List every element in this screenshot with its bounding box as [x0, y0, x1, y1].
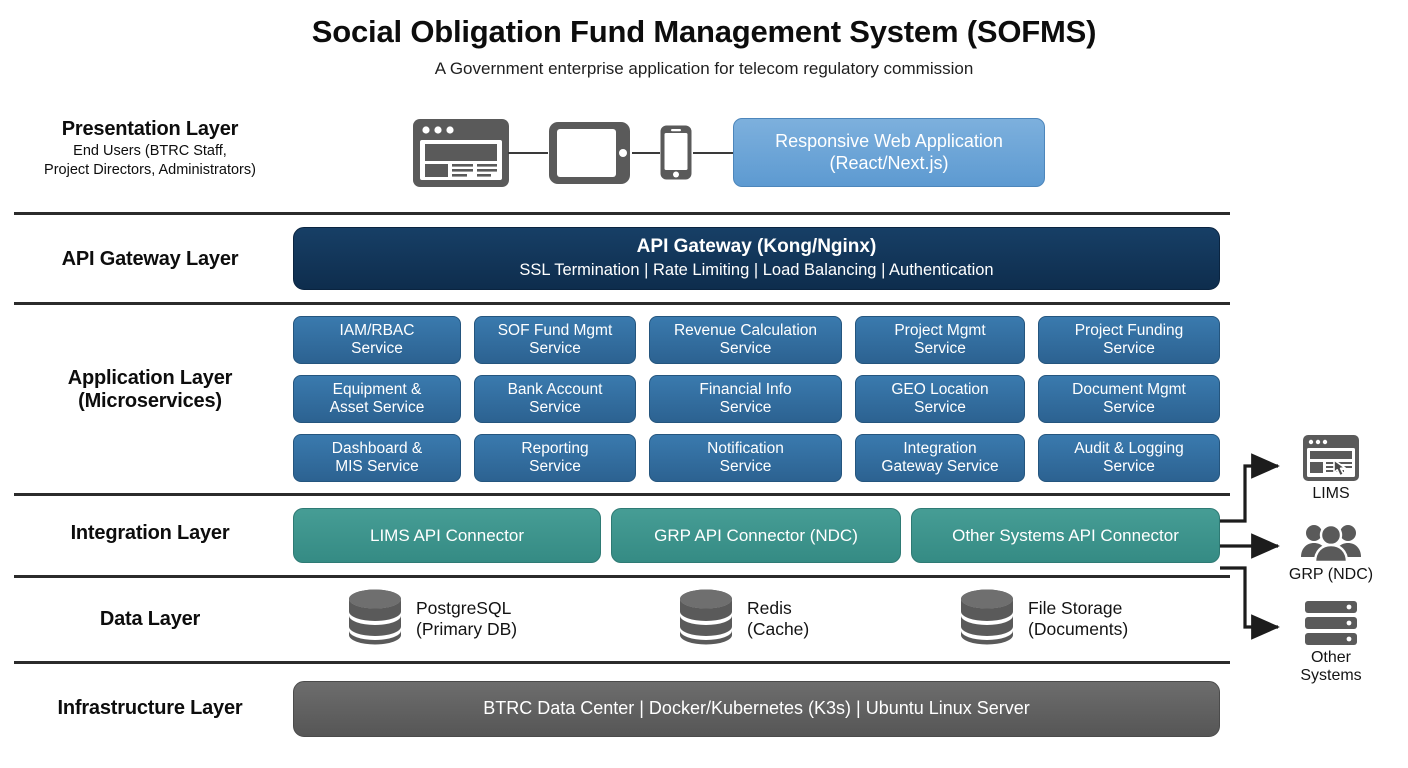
service-label-line2: MIS Service	[332, 458, 422, 476]
service-label-line1: Bank Account	[508, 381, 603, 399]
service-box-geo-location[interactable]: GEO Location Service	[855, 375, 1025, 423]
service-label-line1: IAM/RBAC	[340, 322, 415, 340]
external-system-label: Other Systems	[1266, 649, 1396, 686]
web-app-line-2: (React/Next.js)	[775, 153, 1003, 174]
service-label-line2: Service	[894, 340, 985, 358]
layer-label-presentation: Presentation Layer End Users (BTRC Staff…	[14, 118, 286, 180]
data-store-postgresql[interactable]: PostgreSQL (Primary DB)	[345, 588, 517, 650]
connector-box-lims[interactable]: LIMS API Connector	[293, 508, 601, 563]
application-layer-title-2: (Microservices)	[14, 390, 286, 413]
tablet-icon	[547, 120, 632, 186]
infrastructure-box-text: BTRC Data Center | Docker/Kubernetes (K3…	[483, 698, 1030, 719]
service-label-line2: Gateway Service	[881, 458, 998, 476]
browser-window-icon	[412, 118, 510, 188]
page-title: Social Obligation Fund Management System…	[0, 14, 1408, 50]
device-link-1	[508, 152, 548, 154]
connector-label: Other Systems API Connector	[952, 526, 1179, 546]
presentation-layer-sub-1: End Users (BTRC Staff,	[14, 143, 286, 160]
device-link-2	[632, 152, 660, 154]
service-label-line2: Service	[699, 399, 791, 417]
divider-application-bottom	[14, 493, 1230, 496]
divider-integration-bottom	[14, 575, 1230, 578]
external-label-line-1: GRP (NDC)	[1266, 566, 1396, 584]
service-label-line1: Document Mgmt	[1072, 381, 1186, 399]
integration-layer-title: Integration Layer	[14, 522, 286, 545]
service-box-project-mgmt[interactable]: Project Mgmt Service	[855, 316, 1025, 364]
api-gateway-box[interactable]: API Gateway (Kong/Nginx) SSL Termination…	[293, 227, 1220, 290]
external-system-label: GRP (NDC)	[1266, 566, 1396, 584]
architecture-diagram: Social Obligation Fund Management System…	[0, 0, 1408, 768]
external-system-grp[interactable]: GRP (NDC)	[1266, 521, 1396, 584]
data-store-line-2: (Documents)	[1028, 619, 1128, 640]
service-label-line2: Service	[498, 340, 613, 358]
browser-cursor-icon	[1266, 434, 1396, 482]
database-cylinder-icon	[957, 588, 1017, 650]
service-label-line1: SOF Fund Mgmt	[498, 322, 613, 340]
service-label-line2: Service	[674, 340, 817, 358]
external-label-line-1: LIMS	[1266, 485, 1396, 503]
service-box-equipment-asset[interactable]: Equipment & Asset Service	[293, 375, 461, 423]
service-label-line1: Revenue Calculation	[674, 322, 817, 340]
data-store-line-2: (Cache)	[747, 619, 809, 640]
device-link-3	[693, 152, 733, 154]
service-box-sof-fund-mgmt[interactable]: SOF Fund Mgmt Service	[474, 316, 636, 364]
data-store-line-1: Redis	[747, 598, 809, 619]
infrastructure-layer-title: Infrastructure Layer	[14, 697, 286, 720]
service-box-bank-account[interactable]: Bank Account Service	[474, 375, 636, 423]
page-subtitle: A Government enterprise application for …	[0, 59, 1408, 79]
web-app-line-1: Responsive Web Application	[775, 131, 1003, 152]
data-store-line-1: File Storage	[1028, 598, 1128, 619]
presentation-layer-title: Presentation Layer	[14, 118, 286, 141]
api-gateway-subtitle: SSL Termination | Rate Limiting | Load B…	[519, 261, 993, 280]
data-store-label: PostgreSQL (Primary DB)	[416, 598, 517, 640]
external-system-lims[interactable]: LIMS	[1266, 434, 1396, 503]
layer-label-data: Data Layer	[14, 608, 286, 631]
data-store-label: File Storage (Documents)	[1028, 598, 1128, 640]
service-label-line2: Service	[1075, 340, 1184, 358]
service-label-line2: Service	[1072, 399, 1186, 417]
service-box-iam-rbac[interactable]: IAM/RBAC Service	[293, 316, 461, 364]
data-store-redis[interactable]: Redis (Cache)	[676, 588, 809, 650]
application-layer-title-1: Application Layer	[14, 367, 286, 390]
external-label-line-2: Systems	[1266, 667, 1396, 685]
data-store-label: Redis (Cache)	[747, 598, 809, 640]
external-label-line-1: Other	[1266, 649, 1396, 667]
service-label-line1: Project Funding	[1075, 322, 1184, 340]
connector-box-grp[interactable]: GRP API Connector (NDC)	[611, 508, 901, 563]
layer-label-infrastructure: Infrastructure Layer	[14, 697, 286, 720]
divider-presentation-bottom	[14, 212, 1230, 215]
connector-box-other-systems[interactable]: Other Systems API Connector	[911, 508, 1220, 563]
service-label-line1: Integration	[881, 440, 998, 458]
service-label-line2: Asset Service	[330, 399, 425, 417]
data-store-line-2: (Primary DB)	[416, 619, 517, 640]
service-label-line2: Service	[891, 399, 988, 417]
service-label-line1: GEO Location	[891, 381, 988, 399]
service-label-line2: Service	[1074, 458, 1183, 476]
service-box-notification[interactable]: Notification Service	[649, 434, 842, 482]
api-gateway-layer-title: API Gateway Layer	[14, 248, 286, 271]
data-store-line-1: PostgreSQL	[416, 598, 517, 619]
service-label-line1: Equipment &	[330, 381, 425, 399]
service-box-dashboard-mis[interactable]: Dashboard & MIS Service	[293, 434, 461, 482]
service-label-line2: Service	[340, 340, 415, 358]
users-group-icon	[1266, 521, 1396, 563]
data-layer-title: Data Layer	[14, 608, 286, 631]
external-system-label: LIMS	[1266, 485, 1396, 503]
smartphone-icon	[659, 124, 693, 181]
service-label-line2: Service	[521, 458, 588, 476]
service-label-line1: Dashboard &	[332, 440, 422, 458]
connector-label: GRP API Connector (NDC)	[654, 526, 858, 546]
layer-label-application: Application Layer (Microservices)	[14, 367, 286, 413]
service-label-line1: Financial Info	[699, 381, 791, 399]
presentation-layer-sub-2: Project Directors, Administrators)	[14, 162, 286, 179]
service-box-reporting[interactable]: Reporting Service	[474, 434, 636, 482]
service-box-revenue-calculation[interactable]: Revenue Calculation Service	[649, 316, 842, 364]
layer-label-api-gateway: API Gateway Layer	[14, 248, 286, 271]
service-label-line1: Reporting	[521, 440, 588, 458]
service-box-document-mgmt[interactable]: Document Mgmt Service	[1038, 375, 1220, 423]
layer-label-integration: Integration Layer	[14, 522, 286, 545]
divider-data-bottom	[14, 661, 1230, 664]
server-stack-icon	[1266, 600, 1396, 646]
service-label-line2: Service	[508, 399, 603, 417]
service-label-line1: Project Mgmt	[894, 322, 985, 340]
infrastructure-box[interactable]: BTRC Data Center | Docker/Kubernetes (K3…	[293, 681, 1220, 737]
service-box-project-funding[interactable]: Project Funding Service	[1038, 316, 1220, 364]
service-label-line1: Notification	[707, 440, 784, 458]
connector-label: LIMS API Connector	[370, 526, 524, 546]
data-store-file-storage[interactable]: File Storage (Documents)	[957, 588, 1128, 650]
database-cylinder-icon	[676, 588, 736, 650]
external-system-other[interactable]: Other Systems	[1266, 600, 1396, 686]
service-label-line1: Audit & Logging	[1074, 440, 1183, 458]
api-gateway-title: API Gateway (Kong/Nginx)	[519, 236, 993, 258]
database-cylinder-icon	[345, 588, 405, 650]
service-box-audit-logging[interactable]: Audit & Logging Service	[1038, 434, 1220, 482]
service-label-line2: Service	[707, 458, 784, 476]
service-box-integration-gateway[interactable]: Integration Gateway Service	[855, 434, 1025, 482]
divider-gateway-bottom	[14, 302, 1230, 305]
responsive-web-application-box[interactable]: Responsive Web Application (React/Next.j…	[733, 118, 1045, 187]
service-box-financial-info[interactable]: Financial Info Service	[649, 375, 842, 423]
